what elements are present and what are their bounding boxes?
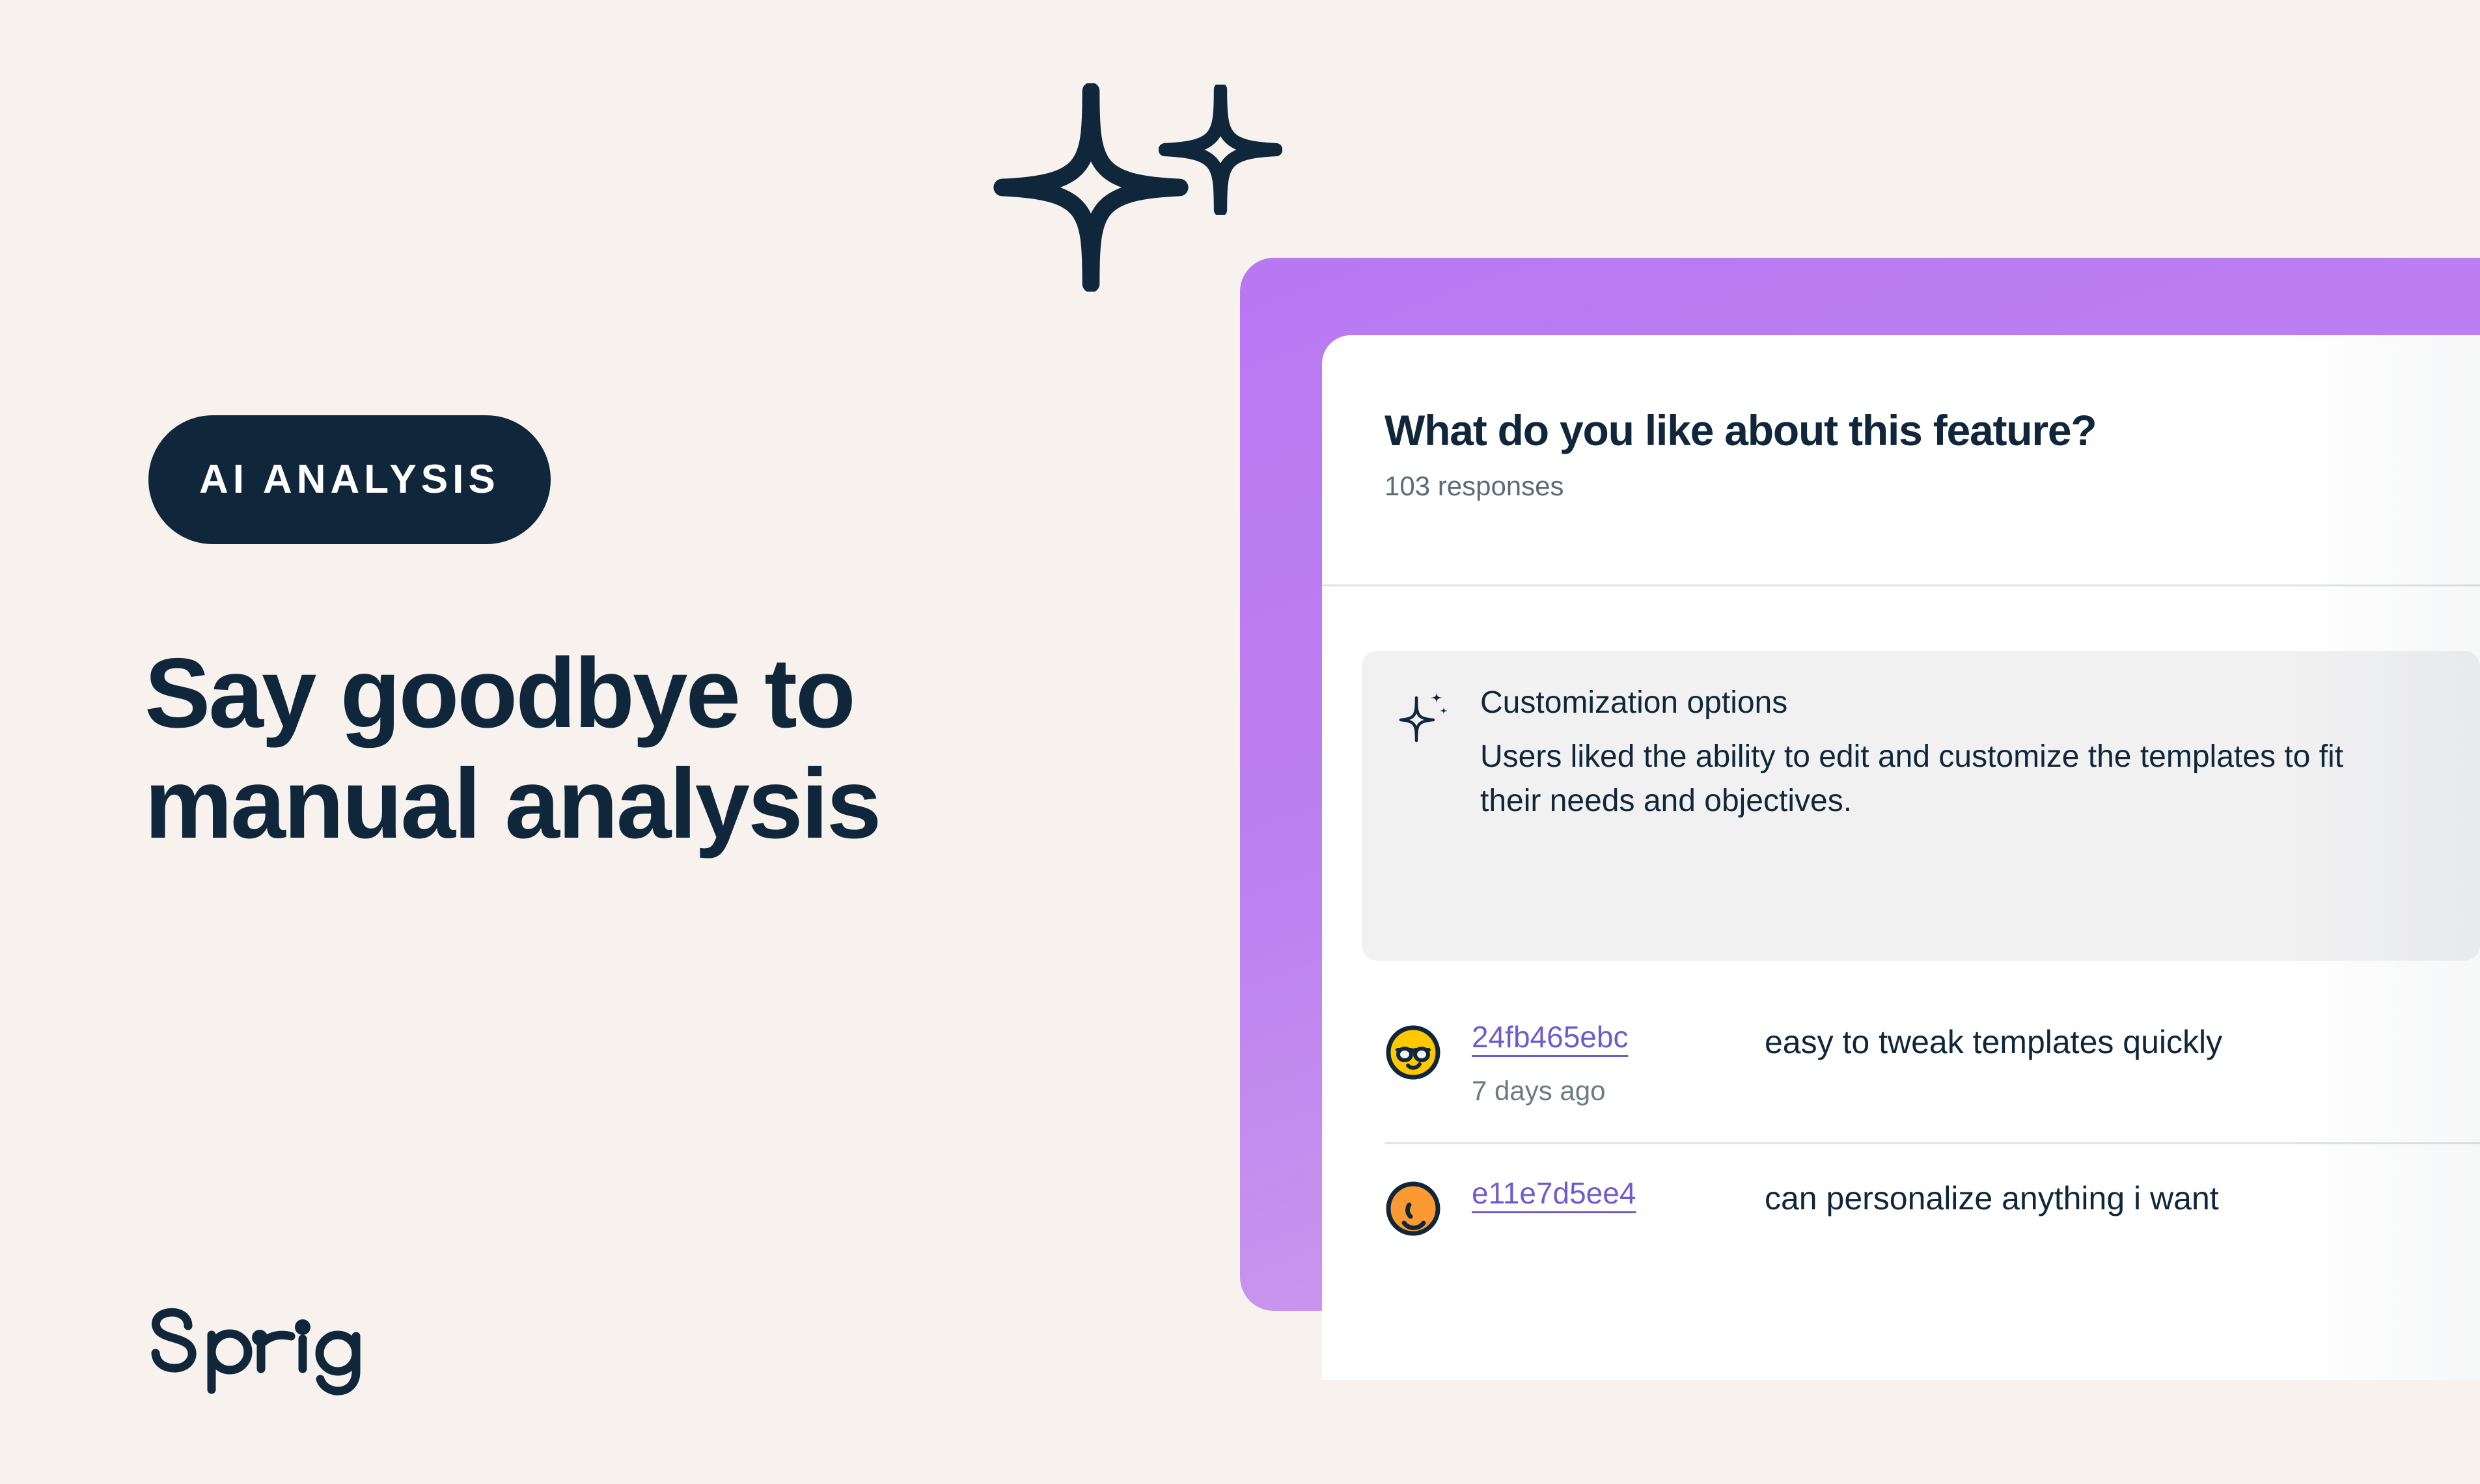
respondent-meta: e11e7d5ee4 bbox=[1472, 1177, 1765, 1232]
table-row[interactable]: 24fb465ebc 7 days ago easy to tweak temp… bbox=[1322, 986, 2480, 1142]
header-divider bbox=[1322, 584, 2480, 586]
response-count: 103 responses bbox=[1385, 471, 2452, 501]
ai-summary-text: Customization options Users liked the ab… bbox=[1480, 685, 2404, 935]
respondent-id-link[interactable]: e11e7d5ee4 bbox=[1472, 1177, 1636, 1210]
response-text: easy to tweak templates quickly bbox=[1765, 1023, 2222, 1062]
question-title: What do you like about this feature? bbox=[1385, 407, 2452, 454]
row-divider bbox=[1385, 1142, 2480, 1144]
respondent-meta: 24fb465ebc 7 days ago bbox=[1472, 1021, 1765, 1106]
headline-line-2: manual analysis bbox=[145, 749, 1160, 859]
nerd-face-emoji-avatar bbox=[1385, 1024, 1442, 1081]
ai-sparkle-icon bbox=[1397, 687, 1453, 743]
ai-summary-box: Customization options Users liked the ab… bbox=[1362, 651, 2480, 961]
sparkle-icon bbox=[1159, 85, 1282, 215]
ai-analysis-badge: AI ANALYSIS bbox=[148, 415, 551, 544]
response-list: 24fb465ebc 7 days ago easy to tweak temp… bbox=[1322, 986, 2480, 1274]
page-title: Say goodbye to manual analysis bbox=[145, 638, 1160, 859]
ai-summary-body: Users liked the ability to edit and cust… bbox=[1480, 735, 2404, 823]
response-text: can personalize anything i want bbox=[1765, 1179, 2219, 1218]
respondent-id-link[interactable]: 24fb465ebc bbox=[1472, 1021, 1628, 1054]
table-row[interactable]: e11e7d5ee4 can personalize anything i wa… bbox=[1322, 1142, 2480, 1274]
hero-left-panel: AI ANALYSIS Say goodbye to manual analys… bbox=[0, 0, 1237, 1484]
card-header: What do you like about this feature? 103… bbox=[1385, 407, 2452, 501]
ai-summary-title: Customization options bbox=[1480, 685, 2404, 721]
survey-results-card: What do you like about this feature? 103… bbox=[1322, 335, 2480, 1380]
product-screenshot-mock: What do you like about this feature? 103… bbox=[1240, 258, 2480, 1312]
headline-line-1: Say goodbye to bbox=[145, 638, 1160, 749]
sprig-logo bbox=[139, 1298, 399, 1396]
badge-label: AI ANALYSIS bbox=[199, 460, 500, 500]
response-timestamp: 7 days ago bbox=[1472, 1076, 1765, 1106]
smiling-face-emoji-avatar bbox=[1385, 1180, 1442, 1237]
